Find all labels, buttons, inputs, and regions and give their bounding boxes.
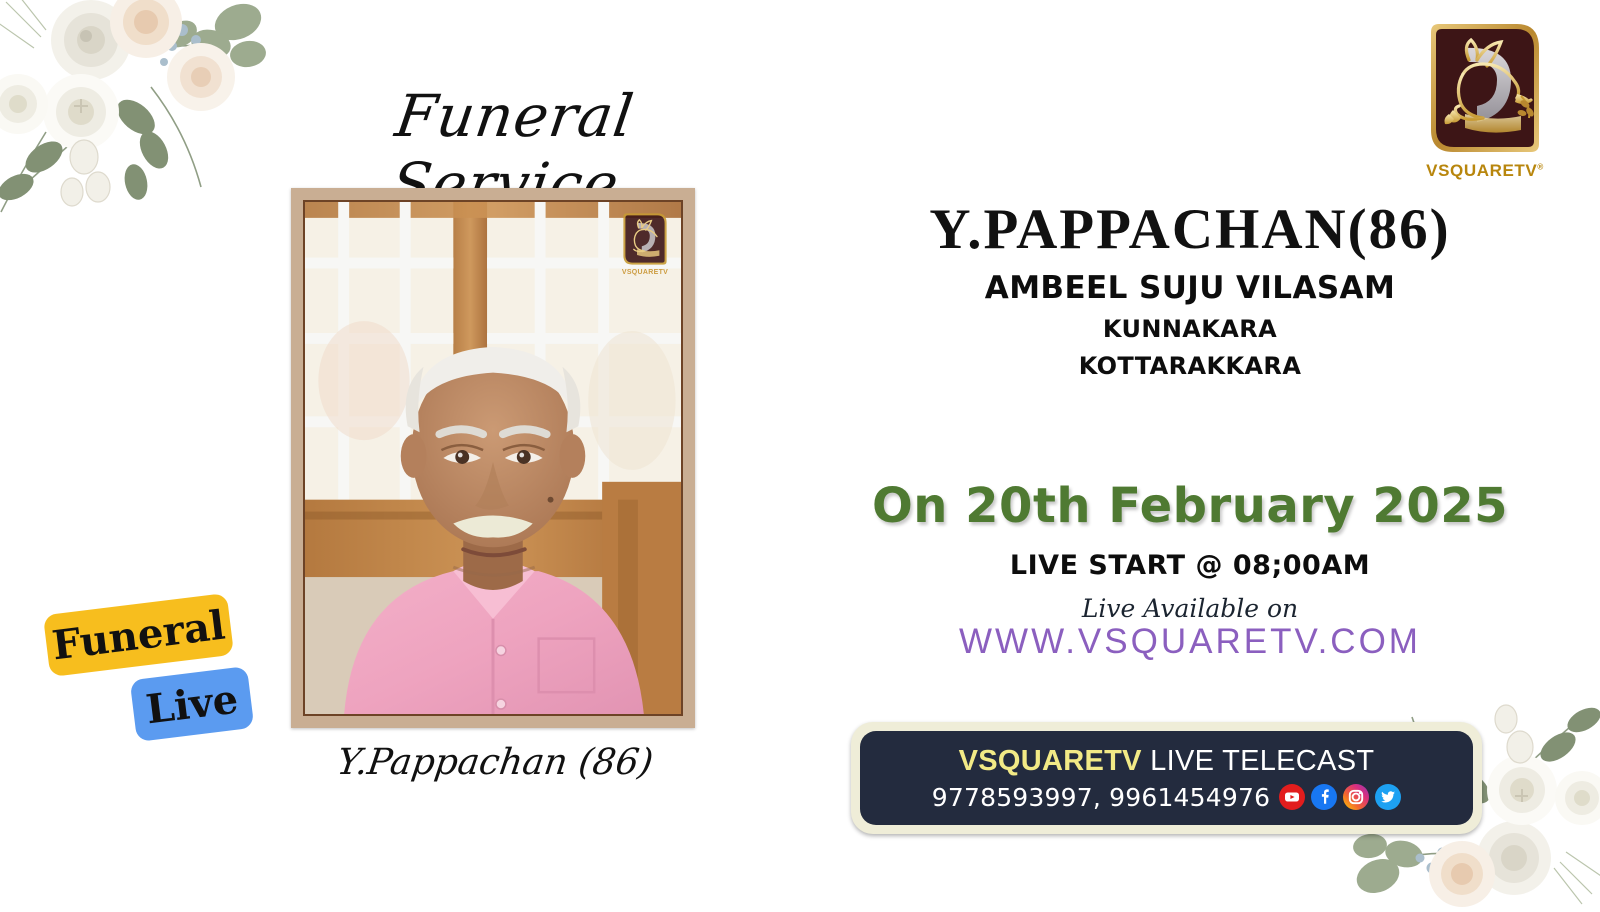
deceased-locality: KUNNAKARA [840,315,1540,343]
social-icon-group [1279,784,1401,810]
contact-phone-numbers[interactable]: 9778593997, 9961454976 [932,783,1270,812]
dove-shield-icon [1425,18,1545,158]
banner-headline: VSQUARETV LIVE TELECAST [959,745,1375,778]
banner-telecast-label: LIVE TELECAST [1150,745,1374,777]
logo-wordmark: VSQUARETV® [1426,161,1544,181]
banner-contact-row: 9778593997, 9961454976 [932,783,1401,812]
sticker-live: Live [130,666,255,742]
event-time: LIVE START @ 08;00AM [840,550,1540,581]
banner-brand: VSQUARETV [959,745,1142,777]
instagram-icon[interactable] [1343,784,1369,810]
deceased-house-name: AMBEEL SUJU VILASAM [840,270,1540,306]
brand-logo: VSQUARETV® [1405,18,1565,193]
floral-decoration-top-left [0,0,286,232]
website-url[interactable]: WWW.VSQUARETV.COM [840,622,1540,662]
event-date: On 20th February 2025 [840,478,1540,534]
portrait-frame: VSQUARETV [291,188,695,728]
deceased-district: KOTTARAKKARA [840,352,1540,380]
photo-watermark: VSQUARETV [617,210,673,280]
live-telecast-banner: VSQUARETV LIVE TELECAST 9778593997, 9961… [851,722,1482,834]
sticker-funeral: Funeral [43,593,234,677]
youtube-icon[interactable] [1279,784,1305,810]
deceased-name: Y.PAPPACHAN(86) [840,200,1540,260]
poster-canvas: VSQUARETV® Funeral Service [0,0,1600,900]
portrait-photo: VSQUARETV [303,200,683,716]
deceased-details: Y.PAPPACHAN(86) AMBEEL SUJU VILASAM KUNN… [840,200,1540,380]
dove-shield-watermark-icon [621,210,669,268]
photo-watermark-label: VSQUARETV [622,269,668,276]
facebook-icon[interactable] [1311,784,1337,810]
banner-panel: VSQUARETV LIVE TELECAST 9778593997, 9961… [860,731,1473,825]
portrait-caption: Y.Pappachan (86) [282,742,708,783]
twitter-icon[interactable] [1375,784,1401,810]
live-available-label: Live Available on [840,594,1540,623]
